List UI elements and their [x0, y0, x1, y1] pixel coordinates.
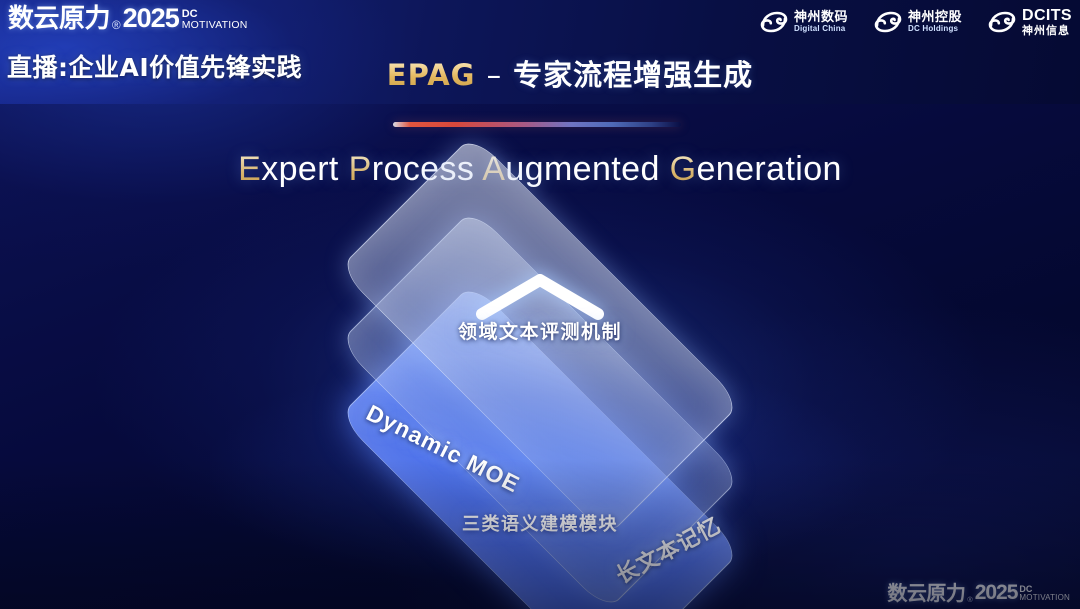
- diagram-layer-top[interactable]: [350, 146, 730, 526]
- layered-architecture-diagram: [280, 248, 800, 548]
- brand-name-cn: 数云原力: [8, 6, 110, 32]
- brand-motivation: MOTIVATION: [182, 20, 248, 31]
- title-dash: –: [487, 58, 503, 92]
- brand-dc-motivation: DC MOTIVATION: [182, 9, 248, 32]
- brand-year: 2025: [123, 5, 179, 32]
- registered-mark: ®: [112, 20, 121, 32]
- brand-logo: 数云原力 ® 2025 DC MOTIVATION: [8, 5, 248, 32]
- partner-name-en: Digital China: [794, 25, 848, 33]
- layer-plate-top: [338, 134, 741, 537]
- page-title: EPAG – 专家流程增强生成: [0, 52, 1080, 94]
- watermark-registered-mark: ®: [967, 596, 972, 603]
- swoosh-logo-icon: [988, 10, 1016, 34]
- slide-canvas: 数云原力 ® 2025 DC MOTIVATION 直播:企业AI价值先锋实践 …: [0, 0, 1080, 609]
- partner-name-cn: 神州数码: [794, 11, 848, 25]
- watermark-name-cn: 数云原力: [887, 583, 965, 603]
- watermark-motivation: MOTIVATION: [1019, 594, 1070, 602]
- swoosh-logo-icon: [874, 10, 902, 34]
- swoosh-logo-icon: [760, 10, 788, 34]
- subtitle-word-expert: Expert: [238, 150, 339, 188]
- brand-watermark: 数云原力 ® 2025 DC MOTIVATION: [887, 582, 1070, 603]
- partner-name-en: DC Holdings: [908, 25, 962, 33]
- partner-logo-dcits: DCITS 神州信息: [988, 8, 1072, 36]
- watermark-year: 2025: [975, 582, 1018, 603]
- partner-name-en: DCITS: [1022, 8, 1072, 25]
- title-chinese: 专家流程增强生成: [513, 58, 753, 92]
- partner-logo-group: 神州数码 Digital China 神州控股 DC Holdings: [760, 8, 1072, 36]
- partner-logo-dc-holdings: 神州控股 DC Holdings: [874, 10, 962, 34]
- title-divider-rule: [393, 122, 681, 127]
- partner-text: DCITS 神州信息: [1022, 8, 1072, 36]
- partner-name-cn: 神州控股: [908, 11, 962, 25]
- partner-logo-digital-china: 神州数码 Digital China: [760, 10, 848, 34]
- watermark-dc-motivation: DC MOTIVATION: [1019, 585, 1070, 603]
- partner-name-cn: 神州信息: [1022, 25, 1072, 37]
- partner-text: 神州数码 Digital China: [794, 11, 848, 33]
- partner-text: 神州控股 DC Holdings: [908, 11, 962, 33]
- title-acronym: EPAG: [387, 58, 476, 92]
